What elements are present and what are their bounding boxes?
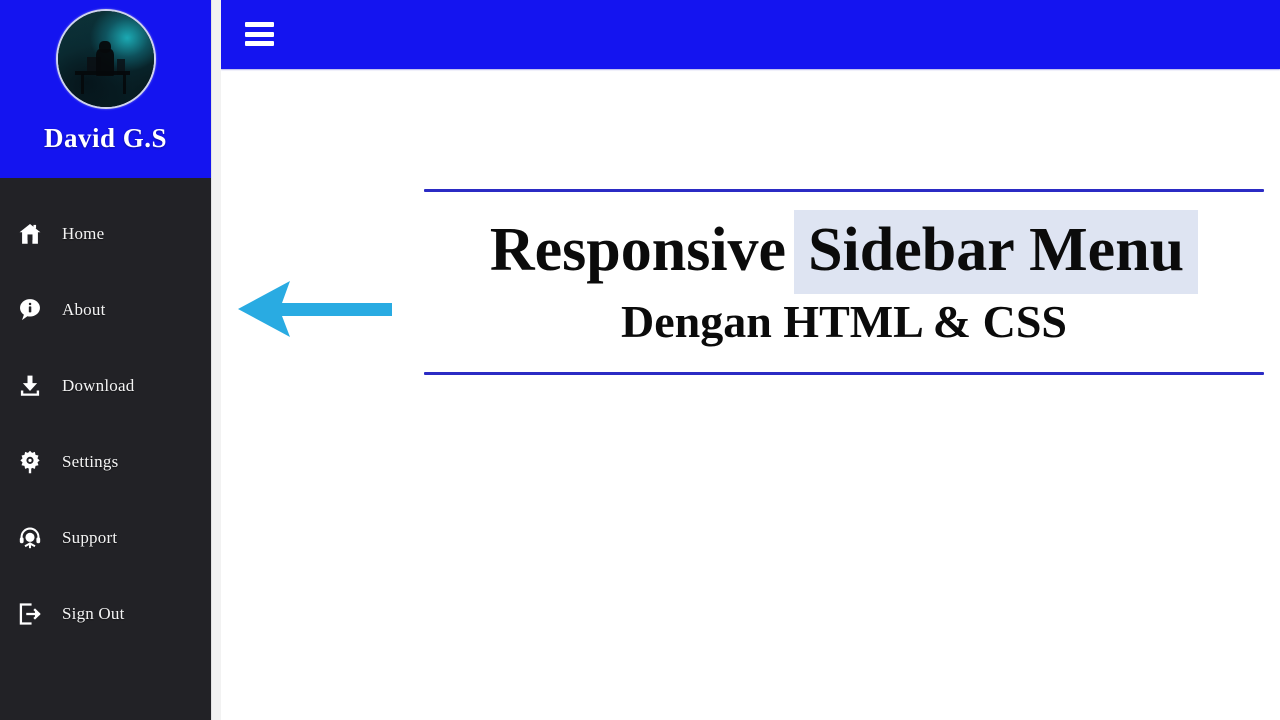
sign-out-icon xyxy=(10,601,50,627)
profile-name: David G.S xyxy=(44,123,167,154)
sidebar-item-settings[interactable]: Settings xyxy=(0,424,211,500)
left-arrow-annotation-icon xyxy=(238,278,392,340)
sidebar-item-home[interactable]: Home xyxy=(0,196,211,272)
page-subtitle: Dengan HTML & CSS xyxy=(424,295,1264,348)
hamburger-bar-3 xyxy=(245,41,274,46)
sidebar-item-label: Support xyxy=(62,528,117,548)
download-icon xyxy=(10,373,50,399)
headset-icon xyxy=(10,525,50,551)
app-screen: David G.S Home xyxy=(0,0,1280,720)
sidebar-item-label: Sign Out xyxy=(62,604,125,624)
sidebar-item-download[interactable]: Download xyxy=(0,348,211,424)
info-bubble-icon xyxy=(10,297,50,323)
gear-icon xyxy=(10,449,50,475)
sidebar-item-label: About xyxy=(62,300,106,320)
home-icon xyxy=(10,221,50,247)
hamburger-icon[interactable] xyxy=(245,20,275,48)
sidebar-item-label: Settings xyxy=(62,452,118,472)
avatar xyxy=(56,9,156,109)
sidebar: David G.S Home xyxy=(0,0,211,720)
sidebar-item-sign-out[interactable]: Sign Out xyxy=(0,576,211,652)
sidebar-item-label: Home xyxy=(62,224,104,244)
sidebar-item-support[interactable]: Support xyxy=(0,500,211,576)
sidebar-item-about[interactable]: About xyxy=(0,272,211,348)
main-content: ResponsiveSidebar Menu Dengan HTML & CSS… xyxy=(221,69,1280,720)
sidebar-item-label: Download xyxy=(62,376,134,396)
hero-rule-top xyxy=(424,189,1264,192)
page-title: ResponsiveSidebar Menu xyxy=(424,218,1264,283)
avatar-desk-leg-left xyxy=(81,74,84,93)
sidebar-menu: Home About xyxy=(0,178,211,652)
hero-section: ResponsiveSidebar Menu Dengan HTML & CSS xyxy=(424,189,1264,375)
hero-rule-bottom xyxy=(424,372,1264,375)
sidebar-scrollbar[interactable] xyxy=(211,0,221,720)
hamburger-bar-2 xyxy=(245,32,274,37)
sidebar-profile-header: David G.S xyxy=(0,0,211,178)
avatar-photo xyxy=(58,11,154,107)
page-title-highlight: Sidebar Menu xyxy=(794,210,1198,294)
topbar xyxy=(221,0,1280,69)
page-title-part1: Responsive xyxy=(490,216,786,284)
left-arrow-annotation xyxy=(238,278,392,340)
avatar-desk-leg-right xyxy=(123,74,126,93)
hamburger-bar-1 xyxy=(245,22,274,27)
